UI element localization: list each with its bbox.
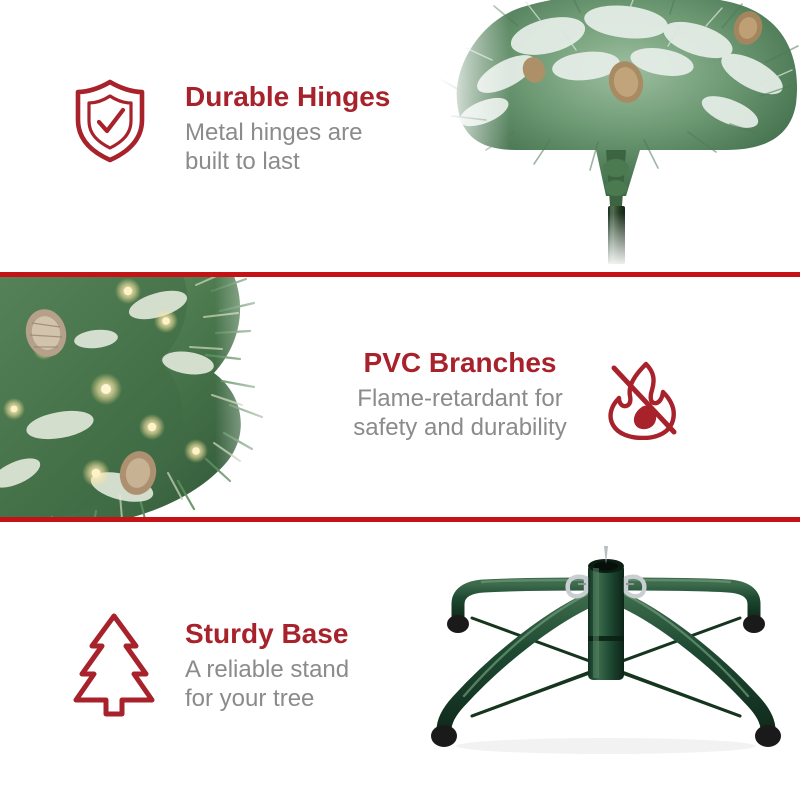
feature-description-line: A reliable stand (185, 655, 349, 684)
feature-description-line: Flame-retardant for (336, 384, 584, 413)
feature-panel-pvc-branches: PVC Branches Flame-retardant for safety … (0, 277, 800, 517)
feature-title: Durable Hinges (185, 80, 390, 114)
no-flame-icon (606, 360, 680, 440)
feature-text-sturdy-base: Sturdy Base A reliable stand for your tr… (185, 617, 349, 713)
feature-description-line: Metal hinges are (185, 118, 390, 147)
feature-description: Flame-retardant for safety and durabilit… (336, 384, 584, 442)
feature-description-line: built to last (185, 147, 390, 176)
product-feature-infographic: Durable Hinges Metal hinges are built to… (0, 0, 800, 800)
feature-description: Metal hinges are built to last (185, 118, 390, 176)
feature-text-durable-hinges: Durable Hinges Metal hinges are built to… (185, 80, 390, 176)
feature-title: PVC Branches (336, 346, 584, 380)
feature-description-line: safety and durability (336, 413, 584, 442)
pine-tree-icon (72, 612, 156, 718)
feature-panel-sturdy-base: Sturdy Base A reliable stand for your tr… (0, 522, 800, 800)
feature-description-line: for your tree (185, 684, 349, 713)
feature-panel-durable-hinges: Durable Hinges Metal hinges are built to… (0, 0, 800, 273)
shield-check-icon (74, 78, 146, 164)
feature-title: Sturdy Base (185, 617, 349, 651)
feature-description: A reliable stand for your tree (185, 655, 349, 713)
flocked-tree-top-photo (430, 0, 800, 273)
tree-stand-photo (410, 540, 800, 770)
feature-text-pvc-branches: PVC Branches Flame-retardant for safety … (336, 346, 584, 442)
lit-branches-photo (0, 277, 305, 517)
